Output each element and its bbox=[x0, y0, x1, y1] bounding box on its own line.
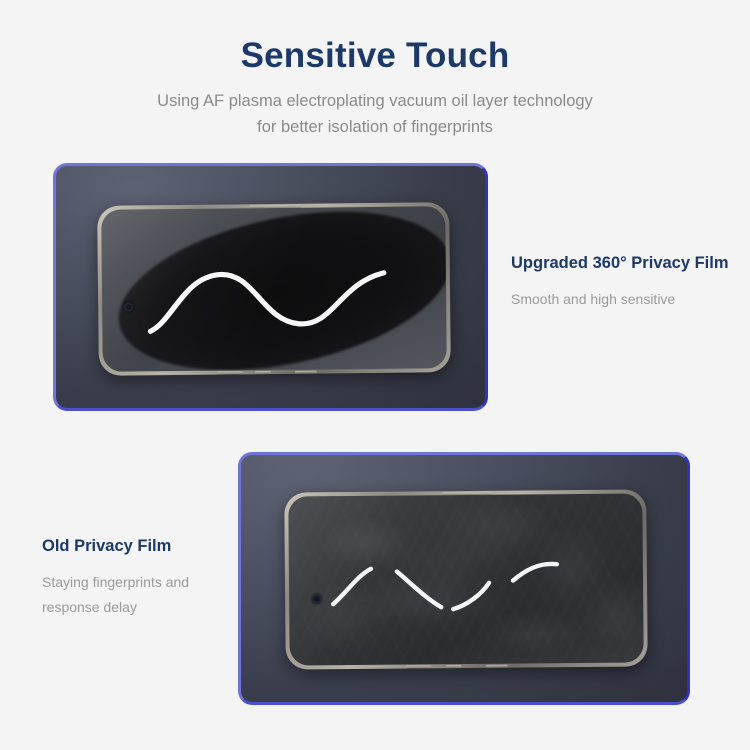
earpiece-speaker-slot-old bbox=[442, 492, 492, 495]
old-caption-title: Old Privacy Film bbox=[42, 535, 257, 557]
upgraded-caption-description: Smooth and high sensitive bbox=[511, 274, 746, 312]
volume-button-old bbox=[406, 665, 432, 668]
old-panel-inner bbox=[241, 455, 687, 702]
phone-screen-smudged bbox=[288, 493, 643, 665]
upgraded-film-panel bbox=[53, 163, 488, 411]
old-film-caption: Old Privacy Film Staying fingerprints an… bbox=[42, 535, 257, 620]
front-camera-punch-hole-old bbox=[312, 594, 321, 603]
power-button bbox=[255, 371, 271, 374]
upgraded-film-caption: Upgraded 360° Privacy Film Smooth and hi… bbox=[511, 252, 746, 312]
broken-touch-trace bbox=[288, 493, 643, 665]
smooth-touch-trace bbox=[101, 206, 447, 372]
front-camera-punch-hole bbox=[124, 302, 133, 311]
header-block: Sensitive Touch Using AF plasma electrop… bbox=[0, 0, 750, 140]
volume-button bbox=[217, 371, 243, 374]
side-button-secondary-old bbox=[486, 665, 508, 668]
earpiece-speaker-slot bbox=[249, 205, 301, 209]
phone-device-upgraded bbox=[97, 202, 451, 376]
page-subtitle-line-1: Using AF plasma electroplating vacuum oi… bbox=[157, 92, 593, 110]
old-caption-description: Staying fingerprints and response delay bbox=[42, 557, 257, 620]
power-button-old bbox=[446, 665, 462, 668]
page-title: Sensitive Touch bbox=[0, 0, 750, 76]
upgraded-panel-inner bbox=[56, 166, 485, 408]
phone-device-old bbox=[284, 489, 648, 669]
page-subtitle-line-2: for better isolation of fingerprints bbox=[257, 118, 493, 136]
old-caption-description-line-2: response delay bbox=[42, 599, 137, 615]
page-subtitle: Using AF plasma electroplating vacuum oi… bbox=[0, 76, 750, 140]
upgraded-caption-title: Upgraded 360° Privacy Film bbox=[511, 252, 746, 274]
old-film-panel bbox=[238, 452, 690, 705]
side-button-secondary bbox=[295, 371, 317, 374]
old-caption-description-line-1: Staying fingerprints and bbox=[42, 574, 189, 590]
phone-screen-clean bbox=[101, 206, 447, 372]
